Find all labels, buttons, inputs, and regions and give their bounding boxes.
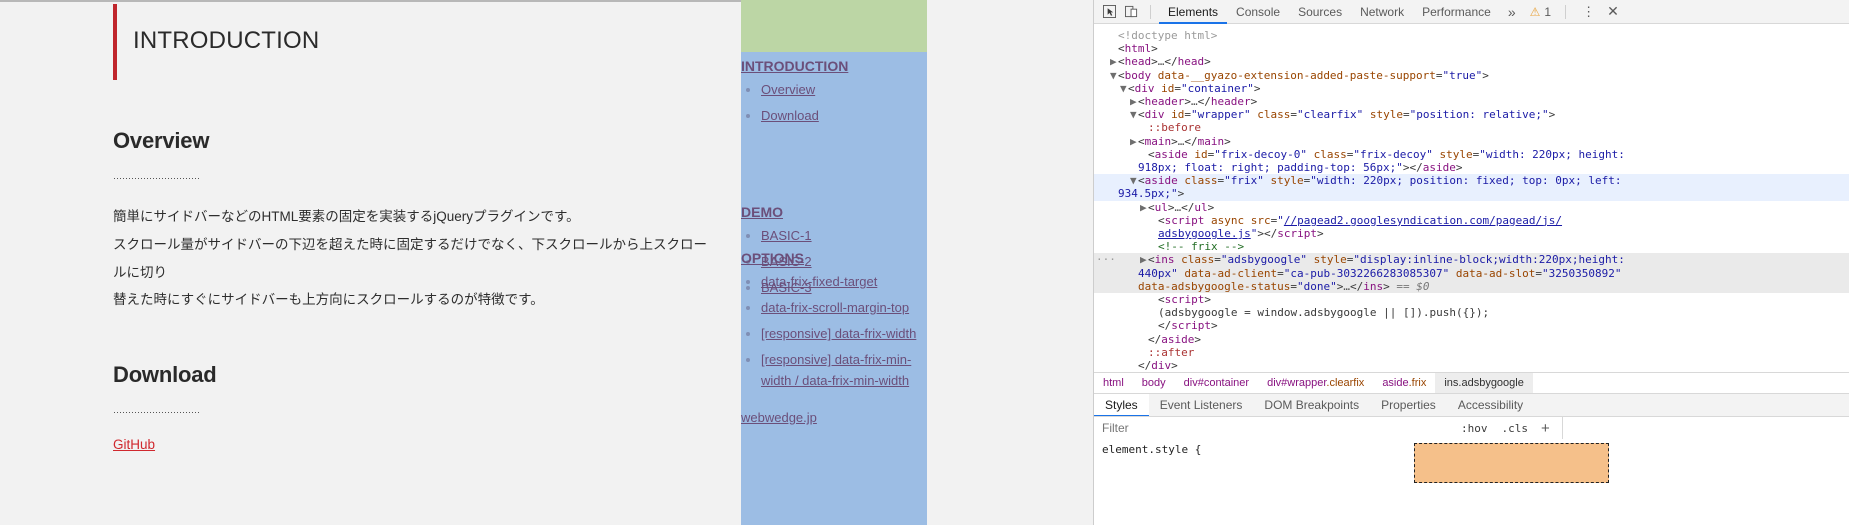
- dom-node[interactable]: 934.5px;">: [1094, 187, 1849, 200]
- nav-group-title-demo[interactable]: DEMO: [741, 204, 783, 220]
- list-item: BASIC-1: [761, 226, 927, 246]
- dom-node[interactable]: ▼<aside class="frix" style="width: 220px…: [1094, 174, 1849, 187]
- disclosure-triangle-icon[interactable]: ▶: [1110, 55, 1118, 68]
- advertisement-placeholder[interactable]: [741, 0, 927, 52]
- new-style-rule-button[interactable]: +: [1535, 420, 1556, 437]
- sidebar-navigation: INTRODUCTION Overview Download DEMO BASI…: [741, 52, 927, 525]
- cls-toggle[interactable]: .cls: [1495, 422, 1536, 435]
- overview-heading: Overview: [113, 128, 713, 160]
- dom-node[interactable]: data-adsbygoogle-status="done">…</ins> =…: [1094, 280, 1849, 293]
- hov-toggle[interactable]: :hov: [1454, 422, 1495, 435]
- dom-node[interactable]: (adsbygoogle = window.adsbygoogle || [])…: [1094, 306, 1849, 319]
- dom-node[interactable]: ▶<main>…</main>: [1094, 135, 1849, 148]
- element-style-rule: element.style {: [1102, 443, 1201, 456]
- dom-node[interactable]: </script>: [1094, 319, 1849, 332]
- tab-performance[interactable]: Performance: [1413, 0, 1500, 24]
- tab-styles[interactable]: Styles: [1094, 394, 1149, 417]
- disclosure-triangle-icon[interactable]: ▼: [1130, 108, 1138, 121]
- dom-node[interactable]: </div>: [1094, 359, 1849, 370]
- nav-group-options: OPTIONS data-frix-fixed-target data-frix…: [741, 250, 927, 397]
- dom-node[interactable]: <aside id="frix-decoy-0" class="frix-dec…: [1094, 148, 1849, 161]
- device-toolbar-icon[interactable]: [1120, 2, 1142, 22]
- github-link[interactable]: GitHub: [113, 437, 155, 452]
- disclosure-triangle-icon[interactable]: ▼: [1110, 69, 1118, 82]
- tab-network[interactable]: Network: [1351, 0, 1413, 24]
- web-page-viewport: INTRODUCTION Overview 簡単にサイドバーなどのHTML要素の…: [0, 0, 1093, 525]
- disclosure-triangle-icon[interactable]: ▶: [1140, 201, 1148, 214]
- disclosure-triangle-icon[interactable]: ▶: [1130, 95, 1138, 108]
- filter-divider: [1562, 417, 1563, 440]
- list-item: Overview: [761, 80, 927, 100]
- tab-event-listeners[interactable]: Event Listeners: [1149, 394, 1254, 417]
- nav-group-title-introduction[interactable]: INTRODUCTION: [741, 58, 848, 74]
- sidebar-pane-tabs: Styles Event Listeners DOM Breakpoints P…: [1094, 393, 1849, 416]
- warning-badge[interactable]: ⚠ 1: [1524, 5, 1557, 19]
- breadcrumb-item[interactable]: ins.adsbygoogle: [1435, 373, 1533, 394]
- filter-input[interactable]: [1094, 418, 1454, 439]
- download-heading-rule: [113, 412, 201, 413]
- overview-line-3: 替えた時にすぐにサイドバーも上方向にスクロールするのが特徴です。: [113, 286, 713, 314]
- dom-node[interactable]: <html>: [1094, 42, 1849, 55]
- overview-heading-rule: [113, 178, 201, 179]
- breadcrumb: htmlbodydiv#containerdiv#wrapper.clearfi…: [1094, 372, 1849, 393]
- dom-node[interactable]: <script async src="//pagead2.googlesyndi…: [1094, 214, 1849, 227]
- dom-node[interactable]: ▶<header>…</header>: [1094, 95, 1849, 108]
- dom-node[interactable]: ···▶<ins class="adsbygoogle" style="disp…: [1094, 253, 1849, 266]
- nav-link-overview[interactable]: Overview: [761, 82, 815, 97]
- dom-node[interactable]: ::after: [1094, 346, 1849, 359]
- dom-node[interactable]: ::before: [1094, 121, 1849, 134]
- nav-link-data-frix-fixed-target[interactable]: data-frix-fixed-target: [761, 274, 877, 289]
- overview-line-1: 簡単にサイドバーなどのHTML要素の固定を実装するjQueryプラグインです。: [113, 203, 713, 231]
- dom-node[interactable]: <script>: [1094, 293, 1849, 306]
- dom-node[interactable]: ▼<div id="wrapper" class="clearfix" styl…: [1094, 108, 1849, 121]
- tab-dom-breakpoints[interactable]: DOM Breakpoints: [1253, 394, 1370, 417]
- dom-node[interactable]: <!doctype html>: [1094, 29, 1849, 42]
- overview-paragraph: 簡単にサイドバーなどのHTML要素の固定を実装するjQueryプラグインです。 …: [113, 203, 713, 314]
- breadcrumb-item[interactable]: div#wrapper.clearfix: [1258, 373, 1373, 394]
- toolbar-divider: [1150, 5, 1151, 19]
- devtools-toolbar: Elements Console Sources Network Perform…: [1094, 0, 1849, 24]
- dom-tree[interactable]: <!doctype html><html>▶<head>…</head>▼<bo…: [1094, 25, 1849, 370]
- dom-node[interactable]: ▼<div id="container">: [1094, 82, 1849, 95]
- list-item: [responsive] data-frix-width: [761, 324, 927, 344]
- nav-link-download[interactable]: Download: [761, 108, 819, 123]
- kebab-menu-icon[interactable]: ⋮: [1574, 4, 1603, 20]
- disclosure-triangle-icon[interactable]: ▶: [1140, 253, 1148, 266]
- tab-properties[interactable]: Properties: [1370, 394, 1447, 417]
- tab-sources[interactable]: Sources: [1289, 0, 1351, 24]
- dom-node[interactable]: ▼<body data-__gyazo-extension-added-past…: [1094, 69, 1849, 82]
- close-icon[interactable]: ✕: [1603, 3, 1628, 20]
- node-overflow-dots: ···: [1096, 253, 1116, 266]
- nav-link-data-frix-width[interactable]: [responsive] data-frix-width: [761, 326, 916, 341]
- dom-node[interactable]: ▶<head>…</head>: [1094, 55, 1849, 68]
- breadcrumb-item[interactable]: div#container: [1175, 373, 1258, 394]
- nav-link-basic-1[interactable]: BASIC-1: [761, 228, 812, 243]
- dom-node[interactable]: <!-- frix -->: [1094, 240, 1849, 253]
- disclosure-triangle-icon[interactable]: ▶: [1130, 135, 1138, 148]
- overview-line-2: スクロール量がサイドバーの下辺を超えた時に固定するだけでなく、下スクロールから上…: [113, 231, 713, 286]
- dom-node[interactable]: adsbygoogle.js"></script>: [1094, 227, 1849, 240]
- breadcrumb-item[interactable]: body: [1133, 373, 1175, 394]
- breadcrumb-item[interactable]: html: [1094, 373, 1133, 394]
- warning-count: 1: [1544, 5, 1551, 19]
- box-model-diagram: [1414, 443, 1609, 483]
- list-item: [responsive] data-frix-min-width / data-…: [761, 350, 927, 390]
- nav-group-introduction: INTRODUCTION Overview Download: [741, 58, 927, 132]
- disclosure-triangle-icon[interactable]: ▼: [1120, 82, 1128, 95]
- content-spacer: [113, 454, 713, 525]
- list-item: Download: [761, 106, 927, 126]
- sidebar-footer: webwedge.jp: [741, 410, 927, 425]
- list-item: data-frix-scroll-margin-top: [761, 298, 927, 318]
- tab-console[interactable]: Console: [1227, 0, 1289, 24]
- nav-list-introduction: Overview Download: [741, 80, 927, 126]
- dom-node[interactable]: </aside>: [1094, 333, 1849, 346]
- nav-list-options: data-frix-fixed-target data-frix-scroll-…: [741, 272, 927, 391]
- dom-node[interactable]: ▶<ul>…</ul>: [1094, 201, 1849, 214]
- dom-node[interactable]: 440px" data-ad-client="ca-pub-3032266283…: [1094, 267, 1849, 280]
- main-content-column: INTRODUCTION Overview 簡単にサイドバーなどのHTML要素の…: [113, 0, 713, 525]
- devtools-panel: Elements Console Sources Network Perform…: [1093, 0, 1849, 525]
- more-tabs-icon[interactable]: »: [1500, 4, 1524, 20]
- nav-link-data-frix-min-width[interactable]: [responsive] data-frix-min-width / data-…: [761, 352, 911, 387]
- breadcrumb-item[interactable]: aside.frix: [1373, 373, 1435, 394]
- fixed-sidebar-aside: INTRODUCTION Overview Download DEMO BASI…: [741, 0, 927, 525]
- styles-filter-row: :hov .cls +: [1094, 416, 1849, 439]
- tab-elements[interactable]: Elements: [1159, 0, 1227, 24]
- nav-group-title-options[interactable]: OPTIONS: [741, 250, 804, 266]
- warning-triangle-icon: ⚠: [1530, 5, 1541, 19]
- download-heading: Download: [113, 362, 713, 394]
- page-title: INTRODUCTION: [133, 20, 319, 64]
- list-item: data-frix-fixed-target: [761, 272, 927, 292]
- introduction-section-header: INTRODUCTION: [113, 4, 713, 80]
- inspect-cursor-icon[interactable]: [1098, 2, 1120, 22]
- section-accent-bar: [113, 4, 117, 80]
- disclosure-triangle-icon[interactable]: ▼: [1130, 174, 1138, 187]
- nav-link-data-frix-scroll-margin-top[interactable]: data-frix-scroll-margin-top: [761, 300, 909, 315]
- tab-accessibility[interactable]: Accessibility: [1447, 394, 1534, 417]
- webwedge-link[interactable]: webwedge.jp: [741, 410, 817, 425]
- toolbar-divider: [1565, 5, 1566, 19]
- dom-node[interactable]: 918px; float: right; padding-top: 56px;"…: [1094, 161, 1849, 174]
